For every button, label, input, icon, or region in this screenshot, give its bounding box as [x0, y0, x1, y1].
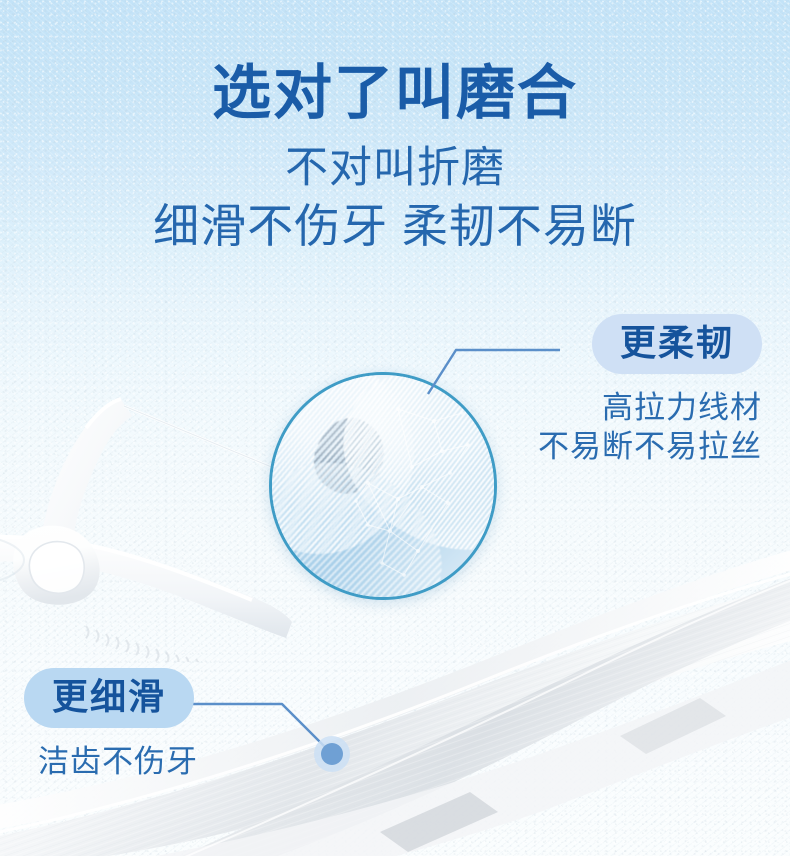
- floss-pick-svg: [0, 392, 294, 662]
- page-title: 选对了叫磨合: [0, 62, 790, 126]
- subtitle-line-2: 细滑不伤牙 柔韧不易断: [0, 200, 790, 253]
- callout-toughness: 更柔韧 高拉力线材 不易断不易拉丝: [494, 314, 762, 466]
- callout-desc-toughness: 高拉力线材 不易断不易拉丝: [494, 388, 762, 466]
- floss-pick-image: [0, 392, 294, 662]
- product-poster: 选对了叫磨合 不对叫折磨 细滑不伤牙 柔韧不易断 更柔韧 高拉力线材 不易断不易…: [0, 0, 790, 856]
- callout-desc-line: 不易断不易拉丝: [494, 427, 762, 466]
- leader-dot: [321, 743, 343, 765]
- callout-smoothness: 更细滑 洁齿不伤牙: [24, 668, 292, 781]
- callout-badge-toughness: 更柔韧: [592, 314, 762, 374]
- grip-ridges: [86, 626, 199, 662]
- headline-block: 选对了叫磨合 不对叫折磨 细滑不伤牙 柔韧不易断: [0, 62, 790, 253]
- callout-badge-smoothness: 更细滑: [24, 668, 194, 728]
- callout-desc-line: 洁齿不伤牙: [38, 742, 292, 781]
- callout-desc-line: 高拉力线材: [494, 388, 762, 427]
- subtitle-line-1: 不对叫折磨: [0, 144, 790, 194]
- callout-desc-smoothness: 洁齿不伤牙: [24, 742, 292, 781]
